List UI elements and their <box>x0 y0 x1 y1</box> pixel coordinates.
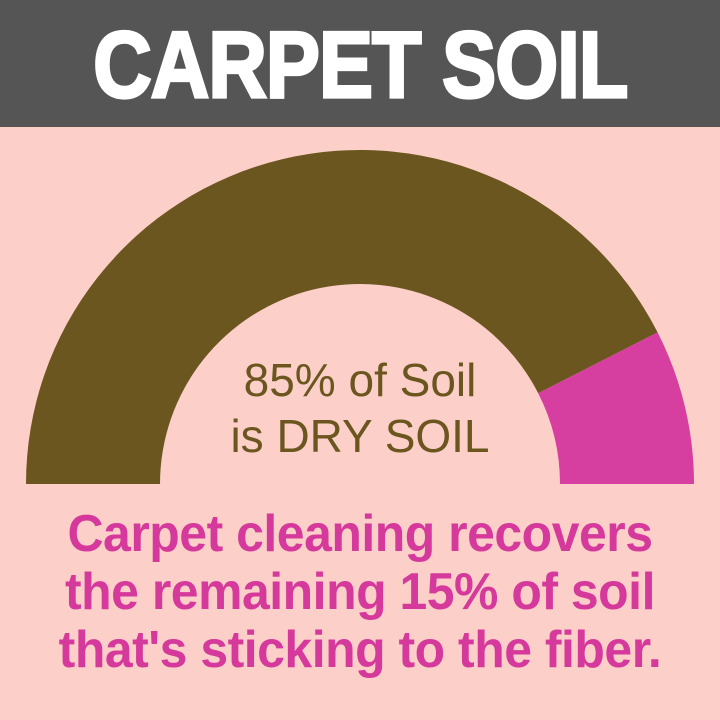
caption-line-3: that's sticking to the fiber. <box>14 621 705 679</box>
gauge-svg <box>0 127 720 507</box>
page-title: CARPET SOIL <box>93 18 627 111</box>
caption-line-2: the remaining 15% of soil <box>14 563 705 621</box>
caption-line-1: Carpet cleaning recovers <box>14 505 705 563</box>
header-bar: CARPET SOIL <box>0 0 720 127</box>
infographic-poster: CARPET SOIL 85% of Soil is DRY SOIL Carp… <box>0 0 720 720</box>
gauge-chart <box>0 127 720 507</box>
caption-block: Carpet cleaning recovers the remaining 1… <box>0 505 720 679</box>
